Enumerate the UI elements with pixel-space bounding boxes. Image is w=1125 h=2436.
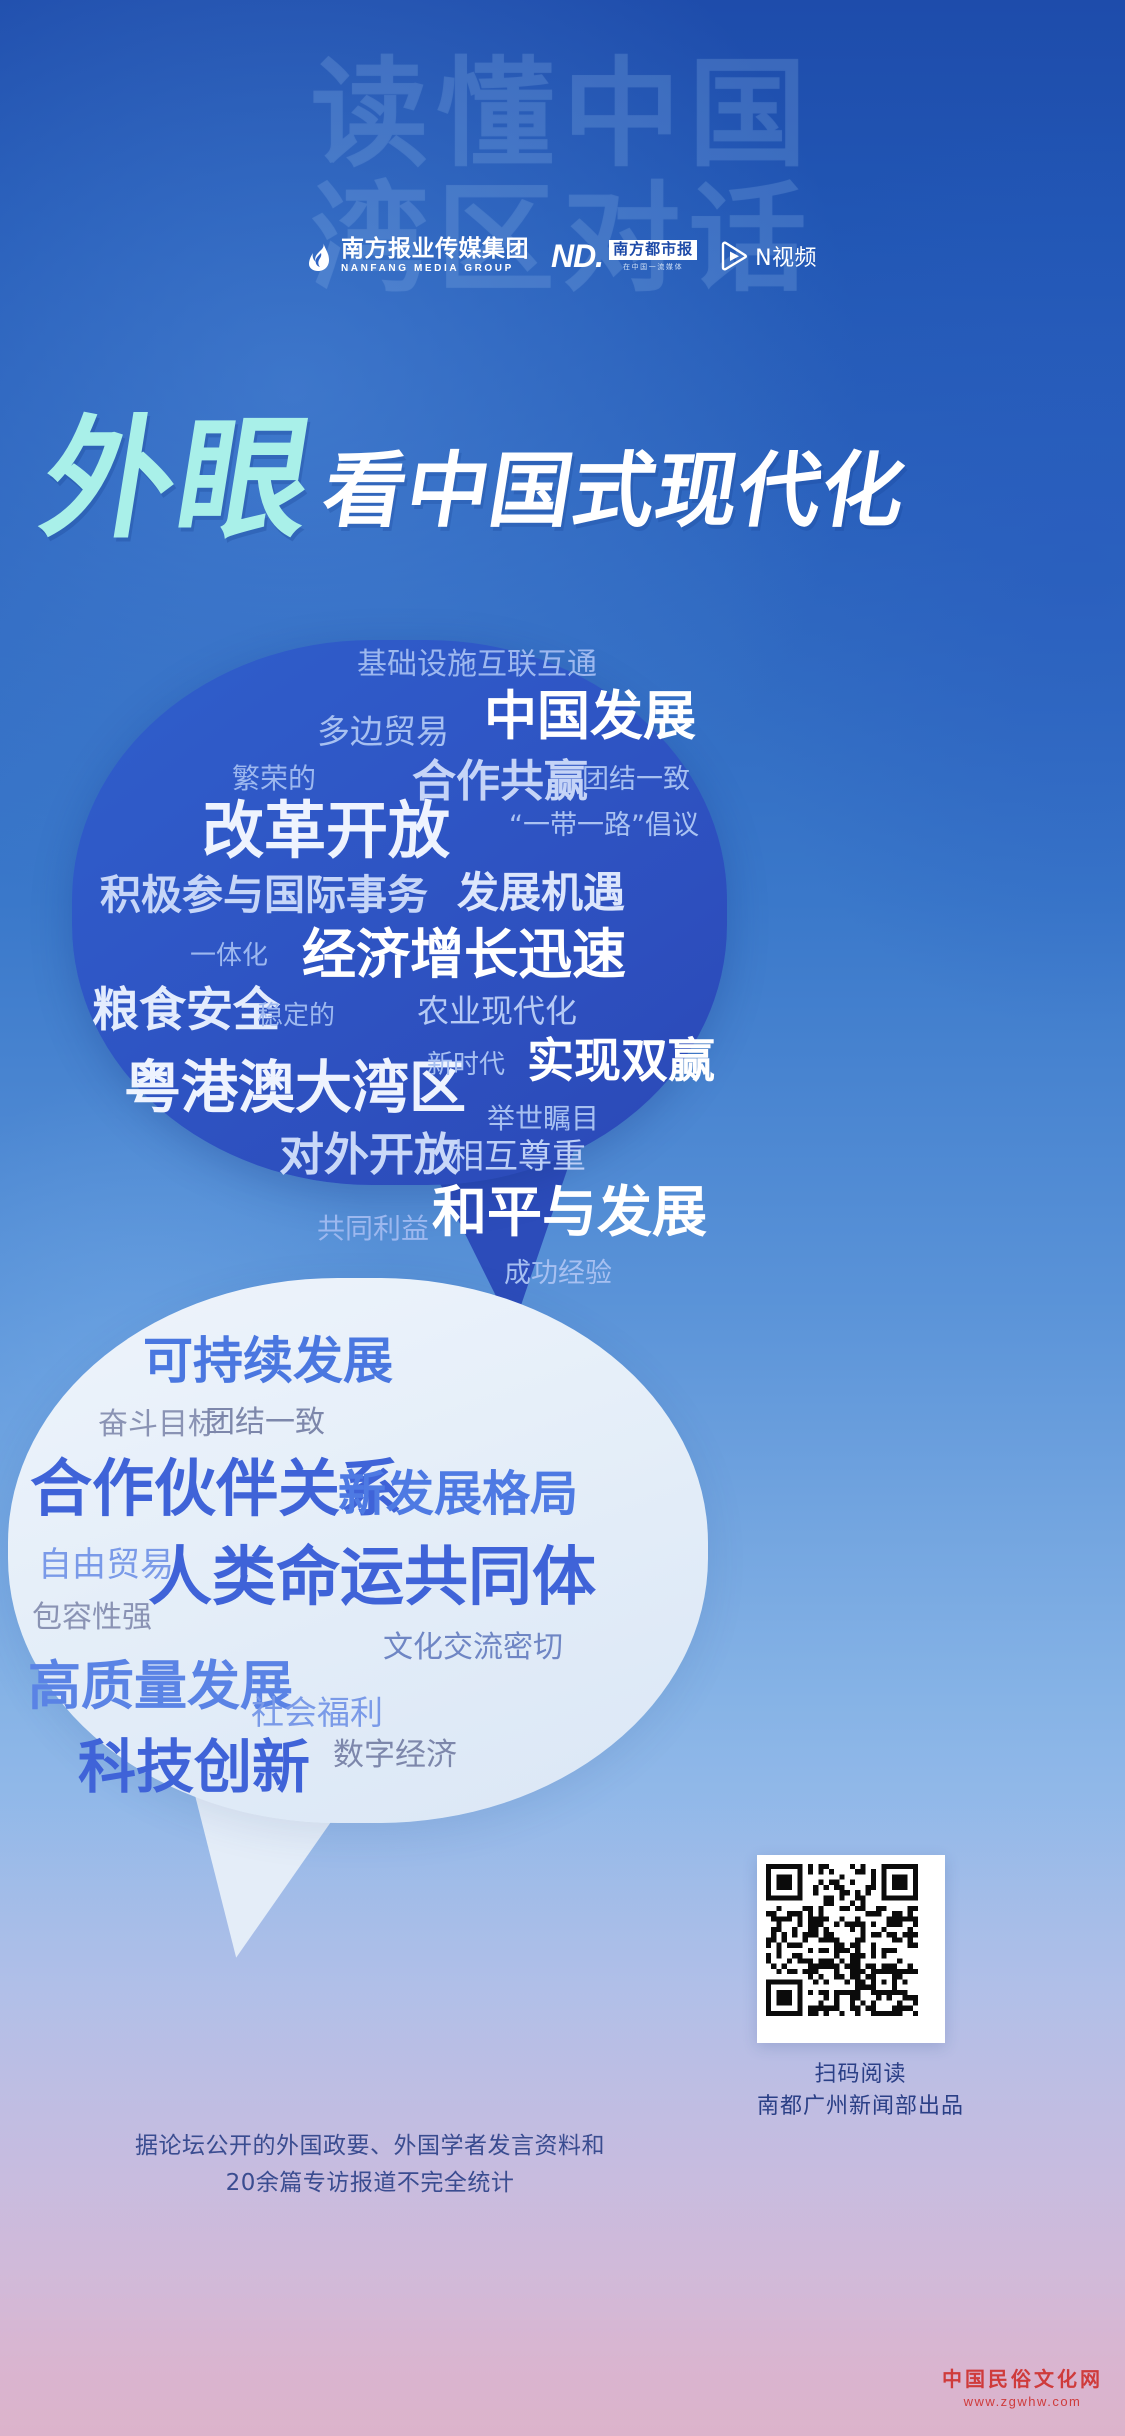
word-cloud-item: 数字经济 [333, 1740, 457, 1771]
word-cloud-item: 相互尊重 [450, 1140, 586, 1174]
footer-note: 据论坛公开的外国政要、外国学者发言资料和 20余篇专访报道不完全统计 [60, 2128, 680, 2203]
blue-word-cloud-bubble: 基础设施互联互通多边贸易中国发展繁荣的合作共赢团结一致改革开放“一带一路”倡议积… [72, 640, 727, 1185]
word-cloud-item: 改革开放 [202, 800, 450, 862]
word-cloud-item: 社会福利 [251, 1696, 383, 1729]
white-word-cloud-bubble: 可持续发展奋斗目标团结一致合作伙伴关系新发展格局自由贸易人类命运共同体包容性强文… [8, 1278, 708, 1823]
word-cloud-item: 共同利益 [317, 1215, 429, 1243]
nanfang-en-label: NANFANG MEDIA GROUP [341, 264, 529, 274]
play-icon [719, 241, 749, 271]
qr-section: 扫码阅读 南都广州新闻部出品 [757, 1855, 964, 2123]
word-cloud-item: 包容性强 [32, 1603, 152, 1633]
word-cloud-item: 粮食安全 [92, 987, 280, 1034]
logo-n-video: N视频 [719, 240, 817, 272]
word-cloud-item: 人类命运共同体 [148, 1546, 596, 1610]
qr-caption-line-1: 扫码阅读 [757, 2059, 964, 2091]
word-cloud-item: 中国发展 [484, 690, 696, 743]
site-watermark-en: www.zgwhw.com [942, 2394, 1103, 2410]
word-cloud-item: 举世瞩目 [487, 1105, 599, 1133]
blue-word-cloud: 基础设施互联互通多边贸易中国发展繁荣的合作共赢团结一致改革开放“一带一路”倡议积… [72, 640, 727, 1185]
word-cloud-item: 一体化 [190, 943, 268, 969]
nandu-box: 南方都市报 在中国一流媒体 [609, 240, 697, 271]
page-title-highlight: 外眼 [34, 418, 322, 543]
site-watermark: 中国民俗文化网 www.zgwhw.com [942, 2367, 1103, 2410]
logo-row: 南方报业传媒集团 NANFANG MEDIA GROUP ND. 南方都市报 在… [0, 238, 1125, 274]
qr-code[interactable] [757, 1855, 945, 2043]
word-cloud-item: 繁荣的 [232, 765, 316, 793]
word-cloud-item: 稳定的 [257, 1003, 335, 1029]
word-cloud-item: 和平与发展 [432, 1185, 707, 1240]
logo-nandu: ND. 南方都市报 在中国一流媒体 [551, 240, 697, 272]
nanfang-text: 南方报业传媒集团 NANFANG MEDIA GROUP [341, 238, 529, 274]
poster-canvas: 读懂中国 湾区对话 南方报业传媒集团 NANFANG MEDIA GROUP N… [0, 0, 1125, 2436]
word-cloud-item: 粤港澳大湾区 [124, 1060, 466, 1117]
word-cloud-item: 农业现代化 [417, 995, 577, 1027]
word-cloud-item: 经济增长迅速 [302, 928, 626, 982]
word-cloud-item: 团结一致 [205, 1408, 325, 1438]
word-cloud-item: 多边贸易 [317, 715, 449, 748]
nandu-mark: ND. [551, 240, 603, 272]
nandu-cn-label: 南方都市报 [609, 240, 697, 259]
flame-icon [308, 241, 334, 271]
word-cloud-item: 基础设施互联互通 [357, 650, 597, 680]
word-cloud-item: 发展机遇 [457, 872, 625, 914]
nanfang-cn-label: 南方报业传媒集团 [341, 238, 529, 261]
page-title-rest: 看中国式现代化 [316, 451, 912, 543]
word-cloud-item: 实现双赢 [527, 1038, 715, 1085]
word-cloud-item: 新时代 [427, 1052, 505, 1078]
nandu-sub-label: 在中国一流媒体 [623, 262, 683, 272]
white-word-cloud: 可持续发展奋斗目标团结一致合作伙伴关系新发展格局自由贸易人类命运共同体包容性强文… [8, 1278, 708, 1823]
word-cloud-item: 对外开放 [279, 1132, 459, 1177]
word-cloud-item: 可持续发展 [143, 1336, 393, 1386]
word-cloud-item: 文化交流密切 [383, 1633, 563, 1663]
footer-line-2: 20余篇专访报道不完全统计 [60, 2165, 680, 2202]
word-cloud-item: 积极参与国际事务 [100, 875, 428, 916]
word-cloud-item: “一带一路”倡议 [509, 812, 699, 839]
n-video-label: N视频 [755, 240, 817, 272]
qr-caption: 扫码阅读 南都广州新闻部出品 [757, 2059, 964, 2123]
word-cloud-item: 团结一致 [582, 766, 690, 793]
qr-caption-line-2: 南都广州新闻部出品 [757, 2091, 964, 2123]
word-cloud-item: 奋斗目标 [98, 1410, 218, 1440]
logo-nanfang-media-group: 南方报业传媒集团 NANFANG MEDIA GROUP [308, 238, 529, 274]
word-cloud-item: 新发展格局 [338, 1470, 578, 1518]
footer-line-1: 据论坛公开的外国政要、外国学者发言资料和 [60, 2128, 680, 2165]
word-cloud-item: 科技创新 [78, 1738, 310, 1796]
watermark-line-1: 读懂中国 [0, 52, 1125, 177]
site-watermark-cn: 中国民俗文化网 [942, 2367, 1103, 2392]
page-title: 外眼 看中国式现代化 [34, 418, 917, 543]
